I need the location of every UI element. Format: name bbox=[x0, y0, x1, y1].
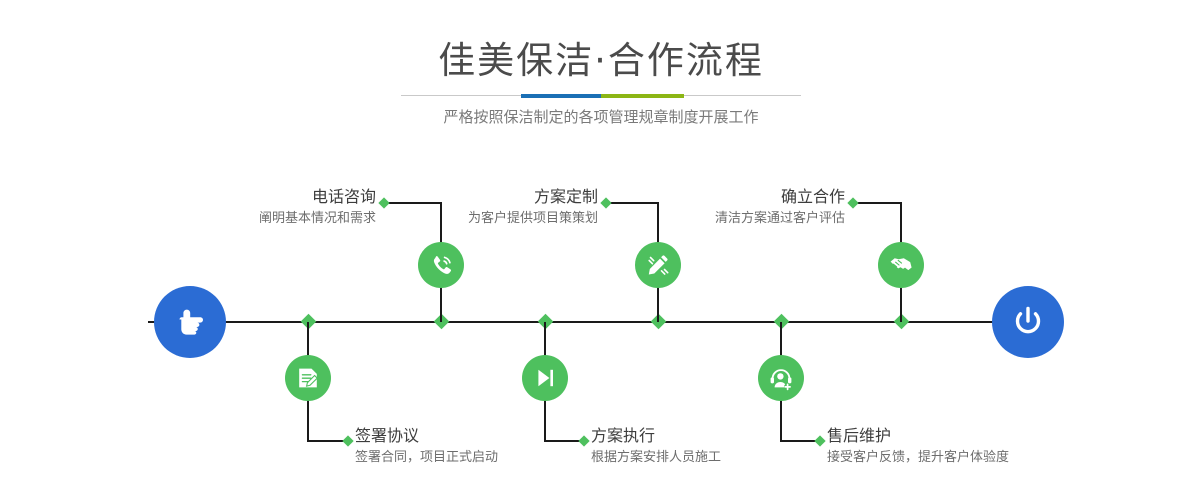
phone-call-icon bbox=[427, 251, 455, 279]
step-icon-badge bbox=[285, 355, 331, 401]
step-label: 方案定制 为客户提供项目策策划 bbox=[310, 186, 598, 229]
process-flow-page: 佳美保洁·合作流程 严格按照保洁制定的各项管理规章制度开展工作 bbox=[0, 0, 1202, 502]
process-timeline: 电话咨询 阐明基本情况和需求 方案定制 bbox=[0, 0, 1202, 502]
node-connector-horizontal bbox=[853, 202, 902, 204]
step-icon-badge bbox=[758, 355, 804, 401]
power-icon bbox=[1008, 302, 1048, 342]
step-icon-badge bbox=[878, 242, 924, 288]
step-icon-badge bbox=[418, 242, 464, 288]
step-title: 方案定制 bbox=[310, 186, 598, 208]
label-marker-diamond bbox=[847, 197, 858, 208]
step-label: 售后维护 接受客户反馈，提升客户体验度 bbox=[827, 425, 1177, 468]
step-description: 接受客户反馈，提升客户体验度 bbox=[827, 447, 1177, 468]
timeline-axis bbox=[148, 321, 1054, 323]
timeline-start-endpoint bbox=[154, 286, 226, 358]
step-description: 清洁方案通过客户评估 bbox=[560, 208, 845, 229]
customer-service-icon bbox=[767, 364, 795, 392]
label-marker-diamond bbox=[342, 435, 353, 446]
timeline-end-endpoint bbox=[992, 286, 1064, 358]
handshake-icon bbox=[887, 251, 915, 279]
pen-edit-icon bbox=[644, 251, 672, 279]
step-icon-badge bbox=[635, 242, 681, 288]
play-execute-icon bbox=[531, 364, 559, 392]
step-label: 确立合作 清洁方案通过客户评估 bbox=[560, 186, 845, 229]
step-title: 确立合作 bbox=[560, 186, 845, 208]
pointing-hand-icon bbox=[171, 303, 209, 341]
step-icon-badge bbox=[522, 355, 568, 401]
document-sign-icon bbox=[294, 364, 322, 392]
step-title: 售后维护 bbox=[827, 425, 1177, 447]
step-description: 为客户提供项目策策划 bbox=[310, 208, 598, 229]
